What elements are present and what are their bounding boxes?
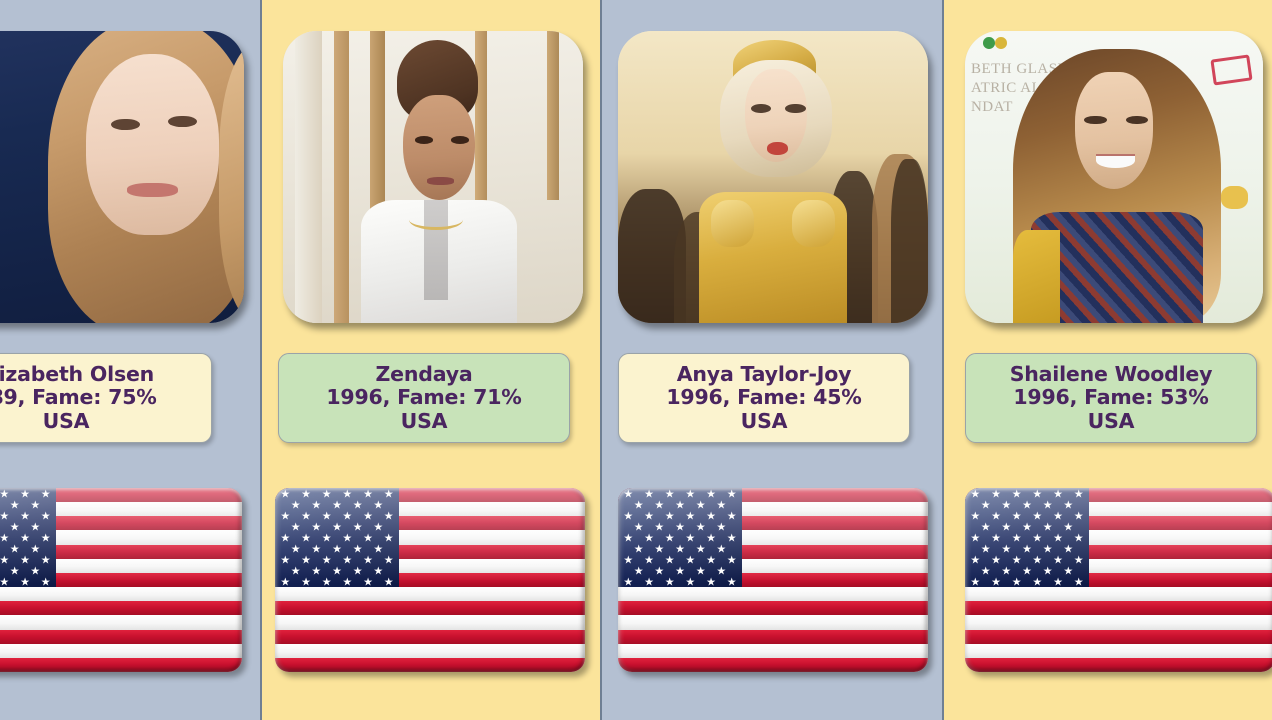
flag-star: ★ [665,554,675,565]
flag-stripe [618,658,928,672]
flag-star: ★ [1063,521,1073,532]
info-card-2[interactable]: Zendaya 1996, Fame: 71% USA [278,353,570,443]
person-country-1: USA [43,410,90,434]
flag-star: ★ [311,499,321,510]
flag-star: ★ [654,543,664,554]
flag-stripe [618,587,928,601]
flag-star: ★ [634,521,644,532]
flag-star: ★ [970,532,980,543]
flag-star: ★ [20,532,30,543]
flag-star: ★ [970,488,980,499]
flag-star: ★ [685,532,695,543]
flag-star: ★ [363,488,373,499]
flag-star: ★ [20,510,30,521]
flag-stripe [965,615,1272,629]
flag-star: ★ [644,488,654,499]
flag-star: ★ [41,576,51,587]
person-stats-3: 1996, Fame: 45% [666,386,861,410]
flag-star: ★ [291,499,301,510]
portrait-elizabeth-olsen[interactable] [0,31,244,323]
person-column-2[interactable]: Zendaya 1996, Fame: 71% USA ★★★★★★★★★★★★… [262,0,602,720]
flag-star: ★ [1012,510,1022,521]
flag-star: ★ [634,543,644,554]
flag-star: ★ [353,499,363,510]
info-card-1[interactable]: Elizabeth Olsen 989, Fame: 75% USA [0,353,212,443]
flag-star: ★ [706,510,716,521]
flag-star: ★ [991,510,1001,521]
flag-star: ★ [981,543,991,554]
flag-star: ★ [41,554,51,565]
flag-star: ★ [20,576,30,587]
portrait-image-4: BETH GLASER ATRIC AI NDAT [965,31,1263,323]
flag-stripe [965,587,1272,601]
flag-star: ★ [716,499,726,510]
flag-star: ★ [363,576,373,587]
usa-flag-4[interactable]: ★★★★★★★★★★★★★★★★★★★★★★★★★★★★★★★★★★★★★★★★… [965,488,1272,672]
flag-star: ★ [706,488,716,499]
flag-star: ★ [0,532,9,543]
flag-star: ★ [301,510,311,521]
flag-star: ★ [30,499,40,510]
flag-star: ★ [675,521,685,532]
flag-star: ★ [280,510,290,521]
flag-stripe [0,601,242,615]
flag-star: ★ [342,510,352,521]
flag-star: ★ [727,488,737,499]
flag-star: ★ [342,554,352,565]
flag-stripe [618,615,928,629]
flag-star: ★ [20,488,30,499]
portrait-image-1 [0,31,244,323]
flag-star: ★ [1012,488,1022,499]
flag-stripe [0,630,242,644]
flag-star: ★ [10,543,20,554]
flag-star: ★ [332,543,342,554]
flag-star: ★ [342,576,352,587]
flag-star: ★ [332,565,342,576]
flag-star: ★ [363,554,373,565]
flag-stripe [618,601,928,615]
flag-star: ★ [634,565,644,576]
flag-star: ★ [322,532,332,543]
flag-star: ★ [623,510,633,521]
person-name-4: Shailene Woodley [1010,363,1213,387]
flag-star: ★ [1043,565,1053,576]
flag-star: ★ [280,532,290,543]
flag-star: ★ [1032,532,1042,543]
flag-star: ★ [675,565,685,576]
flag-star: ★ [685,576,695,587]
flag-star: ★ [41,510,51,521]
flag-canton-2: ★★★★★★★★★★★★★★★★★★★★★★★★★★★★★★★★★★★★★★★★… [275,488,399,587]
flag-stripe [275,658,585,672]
flag-star: ★ [685,488,695,499]
flag-star: ★ [716,565,726,576]
flag-star: ★ [1022,499,1032,510]
person-column-3[interactable]: Anya Taylor-Joy 1996, Fame: 45% USA ★★★★… [602,0,944,720]
flag-star: ★ [373,543,383,554]
flag-star: ★ [1074,554,1084,565]
flag-star: ★ [675,543,685,554]
flag-stripe [275,587,585,601]
flag-star: ★ [665,488,675,499]
flag-star: ★ [353,565,363,576]
flag-star: ★ [1001,499,1011,510]
flag-star: ★ [301,576,311,587]
person-name-1: Elizabeth Olsen [0,363,154,387]
flag-stripe [618,644,928,658]
flag-star: ★ [373,499,383,510]
flag-star: ★ [623,488,633,499]
flag-star: ★ [1074,488,1084,499]
flag-star: ★ [373,521,383,532]
flag-star: ★ [981,499,991,510]
flag-star: ★ [41,488,51,499]
flag-stripe [965,658,1272,672]
flag-stripe [965,644,1272,658]
usa-flag-2[interactable]: ★★★★★★★★★★★★★★★★★★★★★★★★★★★★★★★★★★★★★★★★… [275,488,585,672]
flag-star: ★ [291,521,301,532]
person-stats-1: 989, Fame: 75% [0,386,157,410]
flag-star: ★ [716,521,726,532]
person-column-4[interactable]: BETH GLASER ATRIC AI NDAT [944,0,1272,720]
flag-star: ★ [280,488,290,499]
flag-star: ★ [363,510,373,521]
flag-star: ★ [685,510,695,521]
flag-star: ★ [665,576,675,587]
flag-star: ★ [30,543,40,554]
flag-star: ★ [30,521,40,532]
flag-star: ★ [623,532,633,543]
person-stats-2: 1996, Fame: 71% [326,386,521,410]
flag-star: ★ [665,510,675,521]
flag-canton-4: ★★★★★★★★★★★★★★★★★★★★★★★★★★★★★★★★★★★★★★★★… [965,488,1089,587]
flag-star: ★ [727,554,737,565]
flag-star: ★ [1053,510,1063,521]
flag-star: ★ [291,565,301,576]
flag-star: ★ [301,532,311,543]
flag-star: ★ [1022,543,1032,554]
flag-star: ★ [991,532,1001,543]
portrait-image-3 [618,31,928,323]
flag-star: ★ [0,554,9,565]
flag-star: ★ [384,576,394,587]
flag-star: ★ [384,554,394,565]
flag-star: ★ [644,554,654,565]
person-stats-4: 1996, Fame: 53% [1013,386,1208,410]
flag-star: ★ [1053,532,1063,543]
info-card-3[interactable]: Anya Taylor-Joy 1996, Fame: 45% USA [618,353,910,443]
flag-star: ★ [644,532,654,543]
flag-star: ★ [342,532,352,543]
flag-star: ★ [353,521,363,532]
flag-star: ★ [332,499,342,510]
flag-star: ★ [970,554,980,565]
flag-star: ★ [332,521,342,532]
flag-star: ★ [1032,554,1042,565]
flag-star: ★ [970,576,980,587]
flag-star: ★ [1053,576,1063,587]
flag-star: ★ [311,543,321,554]
flag-star: ★ [322,510,332,521]
flag-star: ★ [654,499,664,510]
flag-star: ★ [981,521,991,532]
person-country-3: USA [741,410,788,434]
flag-star: ★ [623,554,633,565]
flag-star: ★ [1001,521,1011,532]
filmstrip-stage: Elizabeth Olsen 989, Fame: 75% USA ★★★★★… [0,0,1272,720]
person-column-1[interactable]: Elizabeth Olsen 989, Fame: 75% USA ★★★★★… [0,0,262,720]
flag-star: ★ [665,532,675,543]
flag-star: ★ [991,488,1001,499]
flag-stripe [618,630,928,644]
flag-star: ★ [634,499,644,510]
portrait-image-2 [283,31,583,323]
flag-star: ★ [373,565,383,576]
flag-star: ★ [716,543,726,554]
flag-star: ★ [706,554,716,565]
flag-star: ★ [706,532,716,543]
flag-star: ★ [623,576,633,587]
flag-star: ★ [1074,576,1084,587]
flag-star: ★ [654,565,664,576]
flag-stripe [965,630,1272,644]
flag-star: ★ [1053,554,1063,565]
flag-star: ★ [696,565,706,576]
flag-star: ★ [322,488,332,499]
flag-star: ★ [970,510,980,521]
flag-star: ★ [1022,565,1032,576]
flag-stripe [275,601,585,615]
flag-star: ★ [384,532,394,543]
flag-star: ★ [384,510,394,521]
flag-star: ★ [41,532,51,543]
flag-star: ★ [322,554,332,565]
flag-canton-1: ★★★★★★★★★★★★★★★★★★★★★★★★★★★★★★★★★★★★★★★★… [0,488,56,587]
flag-star: ★ [0,576,9,587]
usa-flag-3[interactable]: ★★★★★★★★★★★★★★★★★★★★★★★★★★★★★★★★★★★★★★★★… [618,488,928,672]
flag-star: ★ [727,532,737,543]
flag-star: ★ [342,488,352,499]
flag-star: ★ [353,543,363,554]
flag-star: ★ [322,576,332,587]
flag-star: ★ [363,532,373,543]
flag-star: ★ [696,499,706,510]
flag-star: ★ [1063,543,1073,554]
flag-star: ★ [1032,488,1042,499]
flag-star: ★ [1063,565,1073,576]
person-name-2: Zendaya [375,363,472,387]
flag-star: ★ [1043,499,1053,510]
flag-star: ★ [644,510,654,521]
info-card-4[interactable]: Shailene Woodley 1996, Fame: 53% USA [965,353,1257,443]
flag-star: ★ [280,576,290,587]
flag-stripe [0,658,242,672]
flag-stripe [275,615,585,629]
flag-star: ★ [1012,532,1022,543]
portrait-shailene-woodley[interactable]: BETH GLASER ATRIC AI NDAT [965,31,1263,323]
flag-star: ★ [384,488,394,499]
flag-star: ★ [10,565,20,576]
flag-star: ★ [706,576,716,587]
person-name-3: Anya Taylor-Joy [677,363,852,387]
flag-star: ★ [30,565,40,576]
flag-star: ★ [1043,543,1053,554]
flag-star: ★ [301,554,311,565]
flag-star: ★ [1032,510,1042,521]
flag-star: ★ [1053,488,1063,499]
flag-star: ★ [301,488,311,499]
flag-star: ★ [991,576,1001,587]
flag-canton-3: ★★★★★★★★★★★★★★★★★★★★★★★★★★★★★★★★★★★★★★★★… [618,488,742,587]
flag-star: ★ [1022,521,1032,532]
flag-star: ★ [1074,532,1084,543]
flag-star: ★ [1063,499,1073,510]
portrait-anya-taylor-joy[interactable] [618,31,928,323]
flag-stripe [965,601,1272,615]
flag-stripe [275,630,585,644]
flag-star: ★ [727,510,737,521]
flag-star: ★ [1001,543,1011,554]
flag-star: ★ [1074,510,1084,521]
flag-star: ★ [0,510,9,521]
flag-star: ★ [1012,554,1022,565]
flag-star: ★ [10,521,20,532]
flag-star: ★ [991,554,1001,565]
person-country-4: USA [1088,410,1135,434]
flag-star: ★ [1043,521,1053,532]
flag-star: ★ [291,543,301,554]
flag-star: ★ [311,565,321,576]
person-country-2: USA [401,410,448,434]
flag-star: ★ [1001,565,1011,576]
flag-star: ★ [1012,576,1022,587]
portrait-zendaya[interactable] [283,31,583,323]
flag-star: ★ [727,576,737,587]
flag-stripe [0,644,242,658]
banner-text-line-3: NDAT [971,99,1013,115]
flag-star: ★ [675,499,685,510]
flag-star: ★ [311,521,321,532]
usa-flag-1[interactable]: ★★★★★★★★★★★★★★★★★★★★★★★★★★★★★★★★★★★★★★★★… [0,488,242,672]
flag-stripe [0,615,242,629]
flag-star: ★ [0,488,9,499]
flag-stripe [275,644,585,658]
flag-star: ★ [654,521,664,532]
flag-star: ★ [981,565,991,576]
flag-star: ★ [1032,576,1042,587]
flag-star: ★ [10,499,20,510]
flag-star: ★ [644,576,654,587]
flag-star: ★ [696,543,706,554]
banner-text-line-2: ATRIC AI [971,80,1037,96]
flag-star: ★ [280,554,290,565]
flag-star: ★ [20,554,30,565]
flag-star: ★ [696,521,706,532]
flag-star: ★ [685,554,695,565]
flag-stripe [0,587,242,601]
